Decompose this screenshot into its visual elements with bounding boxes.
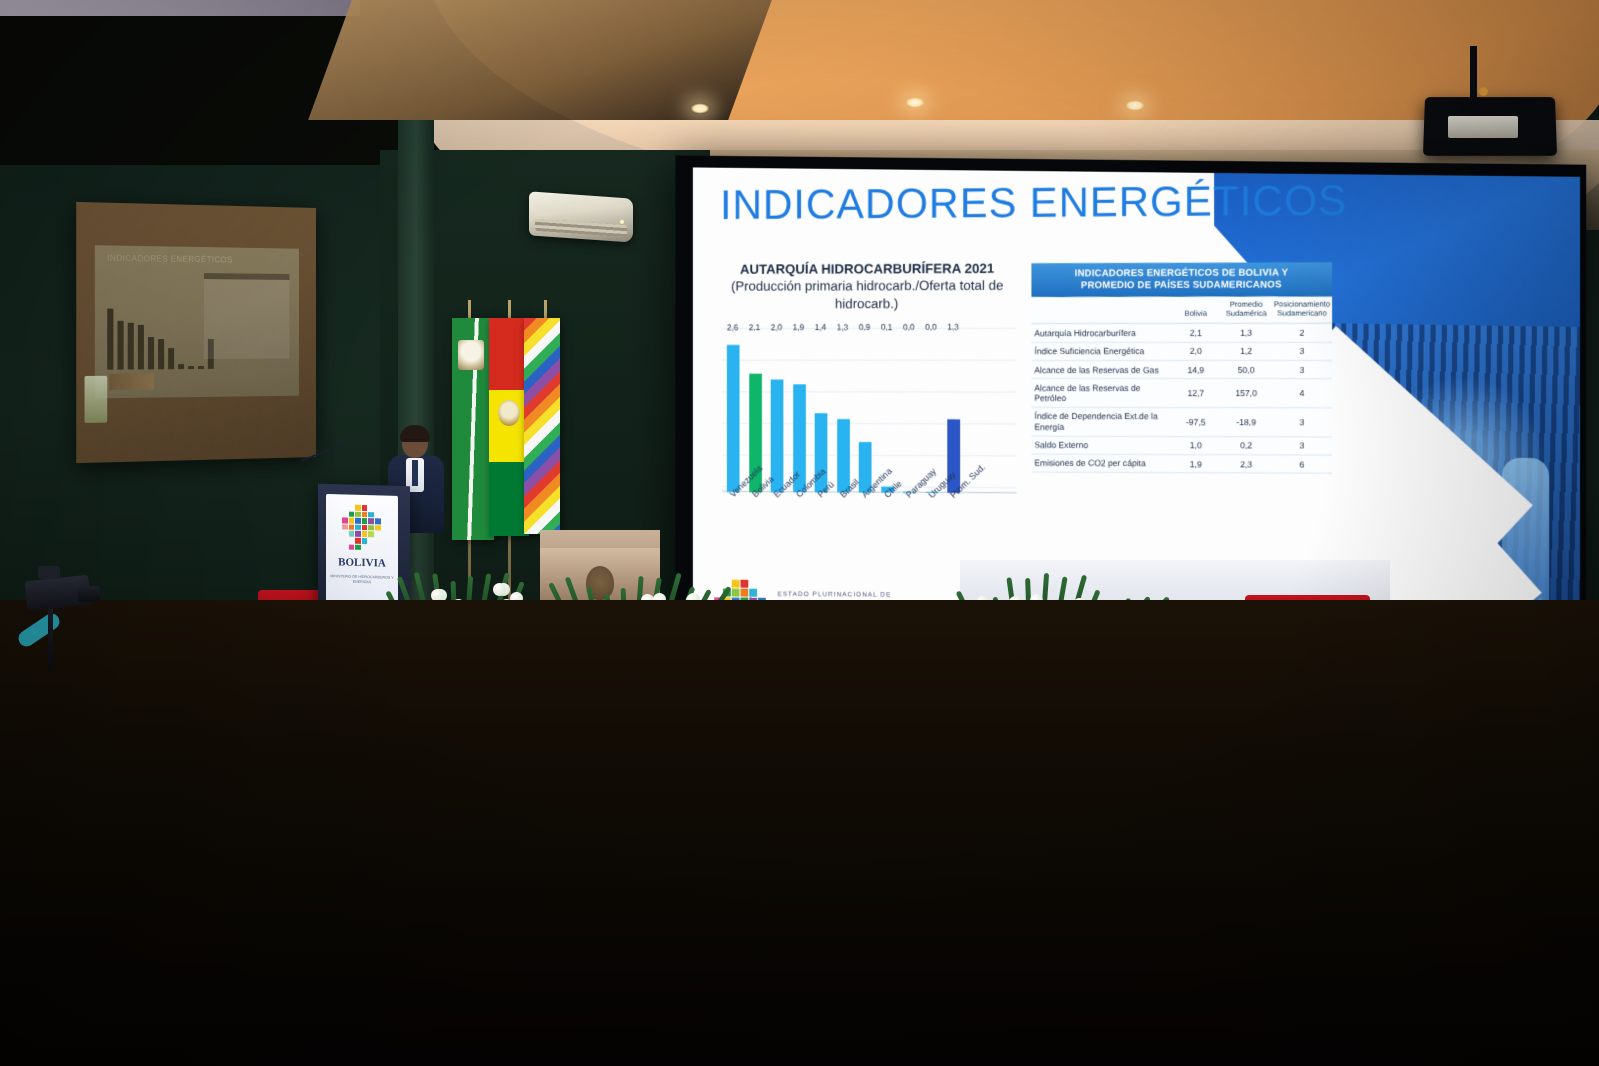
table-cell-value: 2,1 [1171, 324, 1221, 342]
ac-led-icon [620, 220, 624, 224]
ceiling-downlight [690, 103, 710, 114]
podium-front-panel: BOLIVIA MINISTERIO DE HIDROCARBUROS Y EN… [326, 494, 398, 604]
chart-subtitle: (Producción primaria hidrocarb./Oferta t… [720, 277, 1014, 312]
chart-bar-value: 0,9 [859, 322, 871, 332]
table-cell-value: 50,0 [1221, 360, 1272, 378]
chart-bar: 2,0 [771, 379, 784, 492]
table-title: INDICADORES ENERGÉTICOS DE BOLIVIA Y PRO… [1031, 262, 1332, 297]
camera-operator [8, 560, 118, 670]
chart-bar-value: 0,0 [925, 322, 937, 332]
chart-title: AUTARQUÍA HIDROCARBURÍFERA 2021 [720, 260, 1014, 278]
chart-bar-value: 2,0 [771, 322, 783, 332]
table-cell-value: -18,9 [1221, 408, 1272, 437]
chart-bar-value: 2,6 [727, 322, 739, 332]
secondary-slide-title: INDICADORES ENERGÉTICOS [107, 254, 232, 265]
secondary-screen-image: INDICADORES ENERGÉTICOS [95, 245, 299, 398]
table-cell-indicator: Alcance de las Reservas de Gas [1031, 360, 1171, 378]
table-cell-value: 2,0 [1171, 342, 1221, 360]
table-row: Alcance de las Reservas de Gas14,950,03 [1031, 360, 1332, 378]
table-cell-indicator: Saldo Externo [1031, 436, 1171, 455]
ceiling-light-wash [308, 0, 772, 120]
conference-hall-scene: INDICADORES ENERGÉTICOS INDICADORES ENER… [0, 0, 1599, 1066]
podium-brand: BOLIVIA [326, 556, 398, 570]
table-cell-value: 3 [1272, 360, 1332, 378]
slide-title: INDICADORES ENERGÉTICOS [720, 176, 1347, 229]
table-cell-value: 0,2 [1221, 436, 1272, 454]
chart-bar-value: 1,3 [947, 322, 959, 332]
table-cell-value: 2 [1272, 324, 1332, 343]
table-row: Saldo Externo1,00,23 [1031, 436, 1332, 455]
table-cell-indicator: Índice Suficiencia Energética [1031, 342, 1171, 360]
camera-lens-icon [78, 586, 100, 602]
glasses-icon [404, 439, 426, 444]
chart-bar-column: 1,3 [836, 334, 851, 493]
chart-bar-value: 0,1 [881, 322, 893, 332]
bolivia-map-icon [342, 504, 382, 551]
table-cell-value: 3 [1272, 436, 1332, 455]
chart-bar-column: 1,3 [946, 334, 961, 493]
bar-chart: 2,62,12,01,91,41,30,90,10,00,01,3 Venezu… [722, 328, 1017, 527]
chart-bar-column: 2,0 [770, 334, 785, 492]
secondary-logo [109, 373, 154, 390]
speaker-tie [412, 460, 418, 486]
podium-subtitle: MINISTERIO DE HIDROCARBUROS Y ENERGÍAS [330, 574, 394, 586]
table-row: Alcance de las Reservas de Petróleo12,71… [1031, 379, 1332, 408]
table-column-header: Posicionamiento Sudamericano [1272, 296, 1332, 323]
table-body: Autarquía Hidrocarburífera2,11,32Índice … [1031, 324, 1332, 474]
table-cell-value: 3 [1272, 342, 1332, 360]
ceiling-downlight [905, 97, 925, 108]
rig-indicator-icon [1479, 87, 1488, 96]
chart-bar-column: 0,9 [858, 334, 873, 493]
table-cell-value: 6 [1272, 455, 1332, 474]
chart-bar-value: 1,9 [793, 322, 805, 332]
projector-icon [1448, 116, 1518, 138]
table-column-header: Promedio Sudamérica [1221, 297, 1272, 324]
table-row: Autarquía Hidrocarburífera2,11,32 [1031, 324, 1332, 343]
tripod-icon [48, 606, 53, 670]
table-cell-value: 12,7 [1171, 379, 1221, 408]
table-grid: BoliviaPromedio SudaméricaPosicionamient… [1031, 296, 1332, 473]
exit-sign-icon [85, 376, 108, 423]
chart-bar-value: 0,0 [903, 322, 915, 332]
rig-drop-pole [1470, 46, 1477, 104]
air-conditioner-unit [529, 191, 633, 242]
flag-bolivia [489, 318, 529, 536]
table-cell-value: 157,0 [1221, 379, 1272, 408]
flag-crest-icon [458, 340, 484, 370]
table-cell-value: 4 [1272, 379, 1332, 408]
flag-coat-of-arms-icon [498, 400, 520, 426]
table-row: Índice de Dependencia Ext.de la Energía-… [1031, 407, 1332, 436]
table-cell-value: 1,9 [1171, 455, 1221, 473]
chart-category-labels: VenezuelaBoliviaEcuadorColombiaPerúBrasi… [722, 490, 1017, 531]
table-cell-value: 2,3 [1221, 455, 1272, 474]
camera-viewfinder-icon [38, 566, 60, 579]
ceiling-edge-strip [0, 0, 360, 16]
flag-wiphala [524, 318, 560, 534]
chart-bar-column: 1,9 [792, 334, 807, 492]
table-row: Índice Suficiencia Energética2,01,23 [1031, 342, 1332, 361]
table-cell-indicator: Autarquía Hidrocarburífera [1031, 324, 1171, 343]
chart-bar-value: 1,3 [837, 322, 849, 332]
chart-title-block: AUTARQUÍA HIDROCARBURÍFERA 2021 (Producc… [720, 260, 1014, 312]
ceiling-downlight [1125, 100, 1145, 111]
secondary-table [204, 273, 289, 359]
table-cell-value: 14,9 [1171, 360, 1221, 378]
indicators-table: INDICADORES ENERGÉTICOS DE BOLIVIA Y PRO… [1031, 262, 1332, 474]
table-header-row: BoliviaPromedio SudaméricaPosicionamient… [1031, 296, 1332, 324]
chart-bar: 2,6 [727, 345, 740, 492]
table-cell-value: 1,2 [1221, 342, 1272, 360]
table-cell-value: 1,3 [1221, 324, 1272, 342]
secondary-chart-bars [107, 307, 214, 370]
table-cell-indicator: Alcance de las Reservas de Petróleo [1031, 379, 1171, 408]
audience-seating [0, 600, 1599, 1066]
table-column-header [1031, 297, 1171, 324]
table-column-header: Bolivia [1171, 297, 1221, 324]
table-cell-value: -97,5 [1171, 408, 1221, 437]
table-cell-value: 3 [1272, 408, 1332, 437]
table-cell-value: 1,0 [1171, 436, 1221, 454]
operator-arm [15, 611, 62, 650]
table-cell-indicator: Índice de Dependencia Ext.de la Energía [1031, 407, 1171, 436]
chart-bar-value: 2,1 [749, 322, 761, 332]
chart-bar-value: 1,4 [815, 322, 827, 332]
secondary-projection-screen: INDICADORES ENERGÉTICOS [76, 202, 316, 463]
chart-bar-column: 2,6 [726, 334, 741, 492]
chart-bar-column: 0,0 [902, 334, 917, 493]
table-cell-indicator: Emisiones de CO2 per cápita [1031, 454, 1171, 473]
table-row: Emisiones de CO2 per cápita1,92,36 [1031, 454, 1332, 473]
ac-vent-icon [535, 219, 627, 237]
